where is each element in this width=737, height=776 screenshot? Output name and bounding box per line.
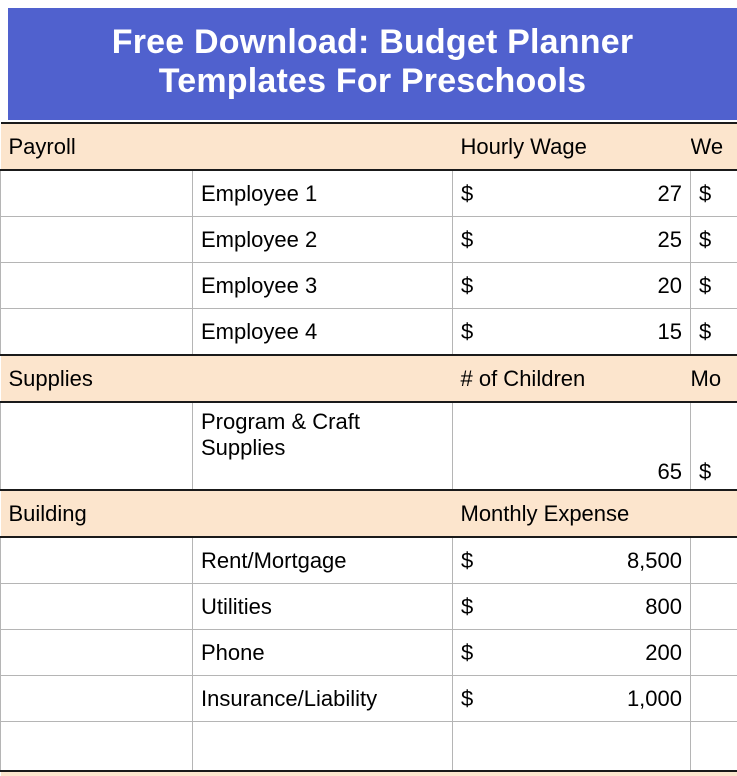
row-indent-cell[interactable] <box>1 630 193 676</box>
table-row[interactable]: Employee 1$27$ <box>1 170 737 217</box>
currency-symbol: $ <box>461 686 473 712</box>
currency-symbol: $ <box>461 548 473 574</box>
row-value-cell[interactable]: $800 <box>453 584 691 630</box>
row-overflow-cell[interactable] <box>691 537 737 584</box>
row-overflow-cell[interactable]: $ <box>691 170 737 217</box>
section-header-row: PayrollHourly WageWe <box>1 123 737 170</box>
row-indent-cell[interactable] <box>1 309 193 356</box>
spreadsheet-canvas: Free Download: Budget Planner Templates … <box>0 0 737 737</box>
row-label-cell[interactable]: Utilities <box>193 584 453 630</box>
table-row[interactable]: Rent/Mortgage$8,500 <box>1 537 737 584</box>
row-overflow-cell[interactable]: $ <box>691 402 737 490</box>
row-overflow-cell[interactable]: $ <box>691 263 737 309</box>
title-banner: Free Download: Budget Planner Templates … <box>8 8 737 120</box>
row-label-cell[interactable]: Rent/Mortgage <box>193 537 453 584</box>
table-row[interactable]: Employee 3$20$ <box>1 263 737 309</box>
section-col3-header-cell: # of Children <box>453 355 691 402</box>
table-row[interactable]: Phone$200 <box>1 630 737 676</box>
currency-symbol: $ <box>461 319 473 345</box>
row-indent-cell[interactable] <box>1 402 193 490</box>
section-header-row: Supplies# of ChildrenMo <box>1 355 737 402</box>
table-row[interactable]: Program & Craft Supplies65$ <box>1 402 737 490</box>
row-indent-cell[interactable] <box>1 170 193 217</box>
row-value-cell[interactable]: $1,000 <box>453 676 691 722</box>
section-col3-header-cell: Monthly Expense <box>453 490 691 537</box>
row-label-cell[interactable]: Employee 3 <box>193 263 453 309</box>
row-overflow-cell[interactable]: $ <box>691 217 737 263</box>
row-label-cell[interactable] <box>193 722 453 772</box>
row-indent-cell[interactable] <box>1 537 193 584</box>
row-label-cell[interactable]: Employee 1 <box>193 170 453 217</box>
row-label-cell[interactable]: Employee 4 <box>193 309 453 356</box>
row-value-cell[interactable]: $25 <box>453 217 691 263</box>
currency-symbol: $ <box>461 181 473 207</box>
section-col4-header-cell: We <box>691 123 737 170</box>
table-row[interactable] <box>1 722 737 772</box>
next-section-strip <box>1 771 737 776</box>
table-row[interactable]: Insurance/Liability$1,000 <box>1 676 737 722</box>
row-label-cell[interactable]: Phone <box>193 630 453 676</box>
row-value-cell[interactable]: $20 <box>453 263 691 309</box>
row-indent-cell[interactable] <box>1 584 193 630</box>
row-overflow-cell[interactable] <box>691 584 737 630</box>
table-row[interactable]: Employee 4$15$ <box>1 309 737 356</box>
banner-title-line-2: Templates For Preschools <box>112 62 634 101</box>
row-indent-cell[interactable] <box>1 722 193 772</box>
row-value-cell[interactable] <box>453 722 691 772</box>
section-name-cell: Supplies <box>1 355 453 402</box>
section-name-cell: Payroll <box>1 123 453 170</box>
row-label-cell[interactable]: Employee 2 <box>193 217 453 263</box>
row-overflow-cell[interactable] <box>691 630 737 676</box>
section-col3-header-cell: Hourly Wage <box>453 123 691 170</box>
banner-title-line-1: Free Download: Budget Planner <box>112 23 634 62</box>
table-row[interactable]: Employee 2$25$ <box>1 217 737 263</box>
row-overflow-cell[interactable] <box>691 676 737 722</box>
budget-table: PayrollHourly WageWeEmployee 1$27$Employ… <box>0 122 737 776</box>
currency-symbol: $ <box>461 640 473 666</box>
section-col4-header-cell: Mo <box>691 355 737 402</box>
row-value-cell[interactable]: 65 <box>453 402 691 490</box>
currency-symbol: $ <box>461 227 473 253</box>
row-indent-cell[interactable] <box>1 263 193 309</box>
section-name-cell: Building <box>1 490 453 537</box>
row-value-cell[interactable]: $8,500 <box>453 537 691 584</box>
row-label-cell[interactable]: Insurance/Liability <box>193 676 453 722</box>
row-value-cell[interactable]: $200 <box>453 630 691 676</box>
section-header-row: BuildingMonthly Expense <box>1 490 737 537</box>
currency-symbol: $ <box>461 594 473 620</box>
row-value-cell[interactable]: $27 <box>453 170 691 217</box>
currency-symbol: $ <box>461 273 473 299</box>
row-overflow-cell[interactable] <box>691 722 737 772</box>
row-overflow-cell[interactable]: $ <box>691 309 737 356</box>
section-col4-header-cell <box>691 490 737 537</box>
row-value-cell[interactable]: $15 <box>453 309 691 356</box>
next-section-strip-cell <box>1 771 737 776</box>
row-indent-cell[interactable] <box>1 217 193 263</box>
row-label-cell[interactable]: Program & Craft Supplies <box>193 402 453 490</box>
row-indent-cell[interactable] <box>1 676 193 722</box>
table-row[interactable]: Utilities$800 <box>1 584 737 630</box>
